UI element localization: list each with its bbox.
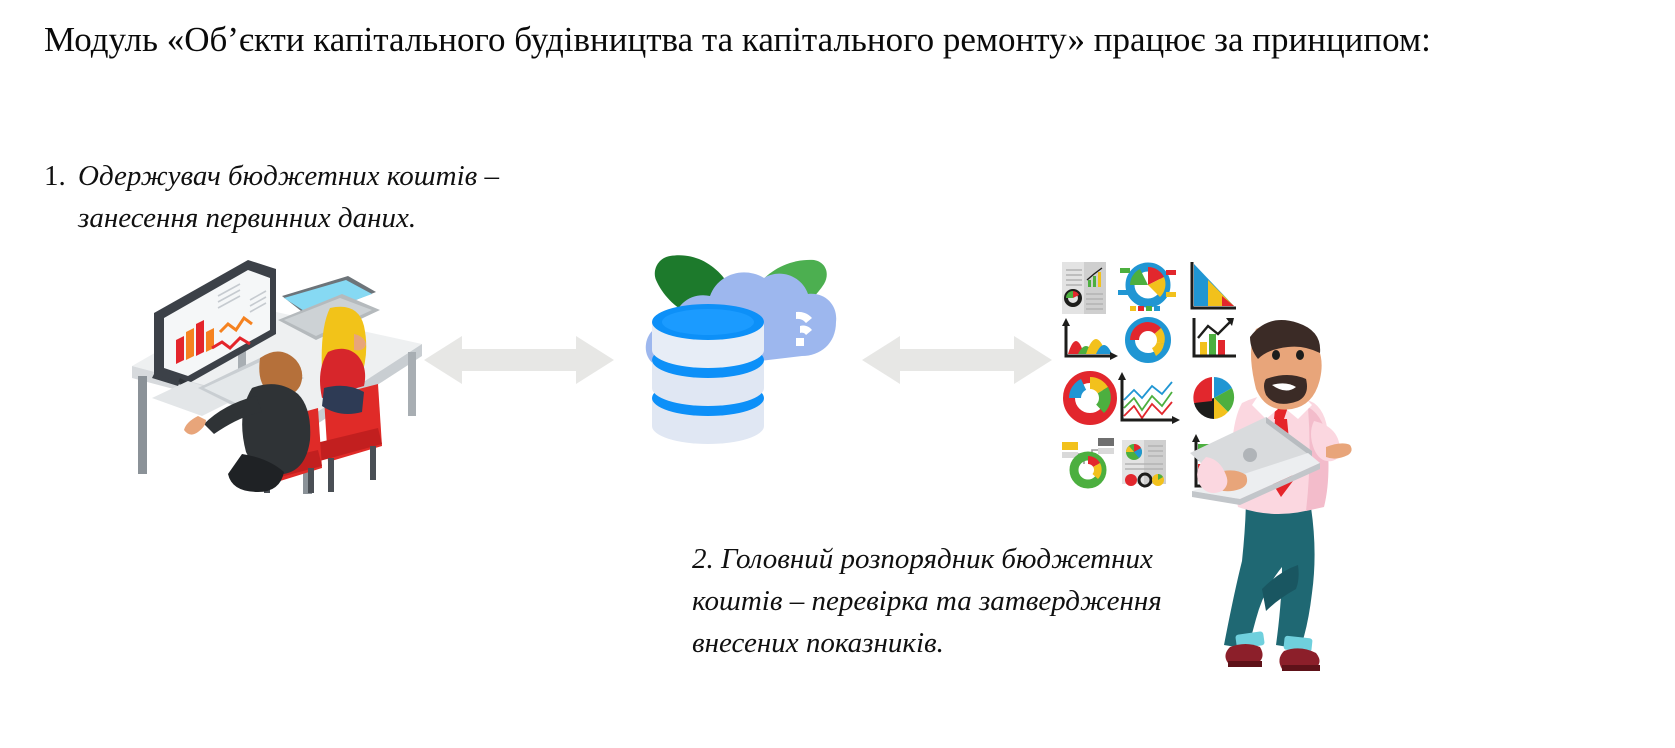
chair-left-leg-2 — [308, 468, 314, 493]
chair-right-leg-1 — [328, 458, 334, 492]
icon-multi-line-chart — [1118, 372, 1180, 424]
arrow-shape — [862, 336, 1052, 384]
man-with-laptop-illustration — [1180, 345, 1380, 675]
double-headed-arrow-right-icon — [862, 332, 1052, 388]
desk-leg-back-right — [408, 352, 416, 416]
db-disc-1-inner — [662, 309, 754, 335]
laptop-logo — [1243, 448, 1257, 462]
two-people-at-desk-illustration — [132, 248, 422, 493]
icon-document-with-pies — [1122, 440, 1166, 486]
icon-donut-with-labels — [1118, 267, 1176, 311]
bullet-item-1: 1. Одержувач бюджетних коштів – занесенн… — [44, 155, 604, 239]
shoe-right-sole — [1282, 665, 1320, 671]
shoe-left — [1225, 644, 1262, 663]
page-title: Модуль «Об’єкти капітального будівництва… — [44, 18, 1644, 62]
icon-hill-bar-chart — [1062, 318, 1118, 360]
icon-report-document — [1062, 262, 1106, 314]
icon-flow-donut-chart — [1062, 438, 1114, 484]
bullet-1-line-2: занесення первинних даних. — [78, 197, 604, 239]
chair-right-leg-2 — [370, 446, 376, 480]
desk-leg-front-left — [138, 376, 147, 474]
eye-right — [1296, 350, 1304, 360]
shoe-left-sole — [1228, 661, 1262, 667]
arrow-shape — [424, 336, 614, 384]
screen-bar-1 — [176, 336, 184, 364]
database-cylinder — [652, 304, 764, 444]
icon-large-donut-chart — [1069, 377, 1111, 419]
pants — [1224, 493, 1315, 649]
double-headed-arrow-left-icon — [424, 332, 614, 388]
eye-left — [1272, 350, 1280, 360]
icon-descending-area-chart — [1192, 262, 1236, 308]
man-hand — [184, 416, 206, 435]
person-woman — [320, 307, 366, 414]
cloud-database-with-sprout-illustration — [630, 208, 850, 438]
icon-split-donut-chart — [1130, 322, 1166, 358]
bullet-1-line-1: Одержувач бюджетних коштів – — [78, 155, 604, 197]
bullet-1-number: 1. — [44, 155, 66, 197]
screen-bar-2 — [186, 328, 194, 360]
screen-bar-3 — [196, 320, 204, 356]
hand-pointing — [1326, 443, 1352, 458]
